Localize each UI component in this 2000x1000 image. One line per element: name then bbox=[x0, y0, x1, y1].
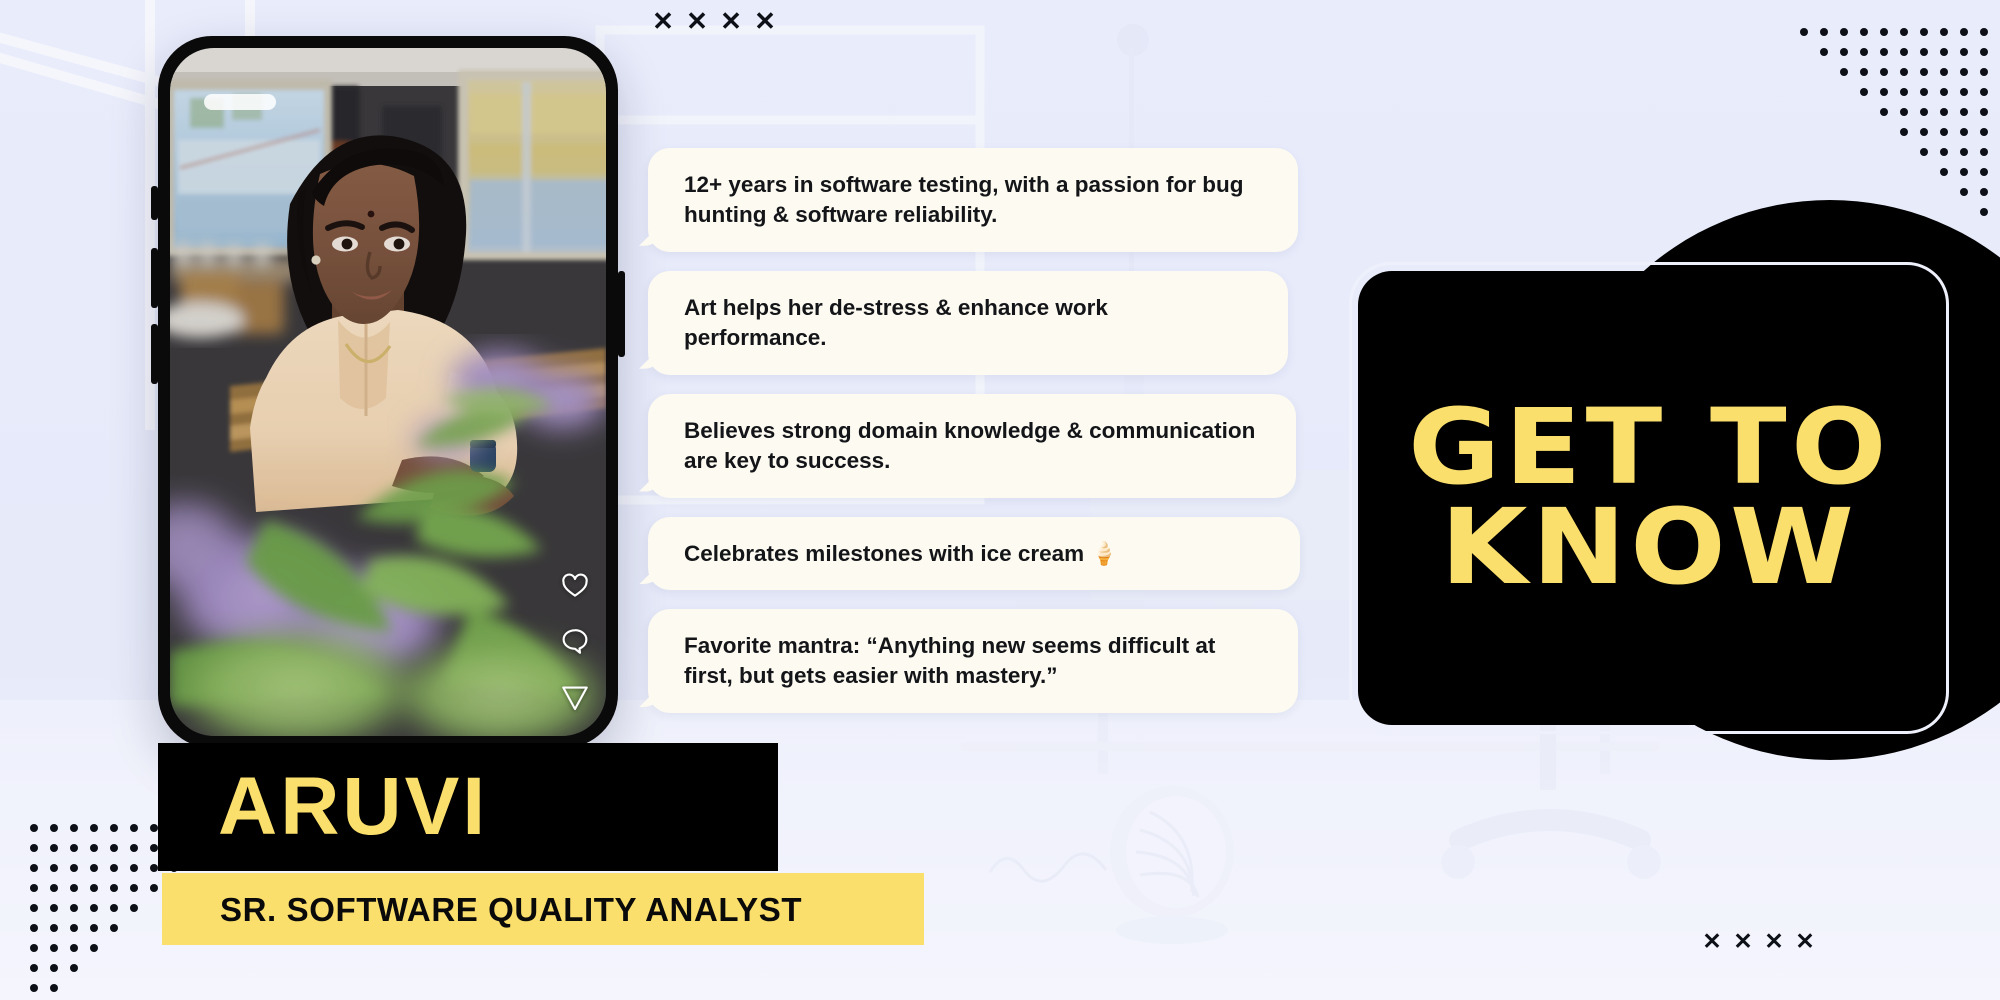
dot bbox=[1980, 188, 1988, 196]
dot bbox=[50, 844, 58, 852]
dot bbox=[1960, 168, 1968, 176]
dot bbox=[1820, 28, 1828, 36]
profile-photo bbox=[170, 48, 606, 736]
dot-row bbox=[1794, 42, 1994, 62]
dot bbox=[1860, 48, 1868, 56]
dot bbox=[1880, 68, 1888, 76]
role-plate: SR. SOFTWARE QUALITY ANALYST bbox=[162, 873, 924, 945]
dot-row bbox=[24, 978, 224, 998]
dot bbox=[1920, 108, 1928, 116]
dot bbox=[50, 984, 58, 992]
dot-spacer bbox=[1920, 208, 1928, 216]
dot-spacer bbox=[170, 964, 178, 972]
dot bbox=[1940, 168, 1948, 176]
phone-speaker-pill bbox=[204, 94, 276, 110]
dot-spacer bbox=[1860, 148, 1868, 156]
dot bbox=[1920, 48, 1928, 56]
dot-spacer bbox=[150, 984, 158, 992]
dot bbox=[1940, 48, 1948, 56]
fact-bubble-list: 12+ years in software testing, with a pa… bbox=[648, 148, 1308, 713]
dot bbox=[150, 884, 158, 892]
dot-spacer bbox=[1800, 88, 1808, 96]
dot-spacer bbox=[1840, 188, 1848, 196]
dot bbox=[1980, 168, 1988, 176]
dot bbox=[1960, 68, 1968, 76]
comment-icon[interactable] bbox=[560, 626, 590, 656]
dot-spacer bbox=[1900, 148, 1908, 156]
dot-spacer bbox=[130, 964, 138, 972]
dot-spacer bbox=[1800, 168, 1808, 176]
dot bbox=[130, 844, 138, 852]
dot bbox=[1920, 88, 1928, 96]
dot-spacer bbox=[1820, 148, 1828, 156]
dot-spacer bbox=[150, 904, 158, 912]
dot-spacer bbox=[1900, 168, 1908, 176]
dot-spacer bbox=[1840, 108, 1848, 116]
dot-spacer bbox=[130, 924, 138, 932]
phone-volume-up-button[interactable] bbox=[151, 248, 158, 308]
fact-bubble: Believes strong domain knowledge & commu… bbox=[648, 394, 1296, 498]
dot-spacer bbox=[1820, 208, 1828, 216]
dot-spacer bbox=[90, 984, 98, 992]
headline-line-1: GET TO bbox=[1408, 398, 1891, 498]
dot bbox=[1800, 28, 1808, 36]
dot-spacer bbox=[1840, 208, 1848, 216]
dot bbox=[1920, 28, 1928, 36]
dot-spacer bbox=[110, 944, 118, 952]
dot bbox=[1820, 48, 1828, 56]
dot-spacer bbox=[130, 984, 138, 992]
x-icon: ✕ bbox=[1700, 930, 1724, 953]
dot-spacer bbox=[1840, 128, 1848, 136]
dot bbox=[1960, 88, 1968, 96]
dot-spacer bbox=[1920, 188, 1928, 196]
dot-spacer bbox=[1880, 188, 1888, 196]
dot bbox=[70, 864, 78, 872]
dot bbox=[1960, 188, 1968, 196]
dot bbox=[70, 844, 78, 852]
dot-spacer bbox=[1800, 188, 1808, 196]
dot bbox=[1980, 88, 1988, 96]
portrait-illustration bbox=[170, 48, 606, 736]
dot-spacer bbox=[1860, 128, 1868, 136]
dot-spacer bbox=[1920, 168, 1928, 176]
dot-spacer bbox=[1960, 208, 1968, 216]
phone-screen bbox=[170, 48, 606, 736]
dot-spacer bbox=[1940, 208, 1948, 216]
dot-spacer bbox=[1860, 168, 1868, 176]
dot-spacer bbox=[1880, 148, 1888, 156]
x-icon: ✕ bbox=[1762, 930, 1786, 953]
dot bbox=[150, 824, 158, 832]
dot bbox=[1980, 208, 1988, 216]
dot bbox=[30, 844, 38, 852]
phone-mute-button[interactable] bbox=[151, 186, 158, 220]
dot-spacer bbox=[1800, 148, 1808, 156]
dot bbox=[1960, 148, 1968, 156]
dot-row bbox=[1794, 22, 1994, 42]
dot-spacer bbox=[1800, 68, 1808, 76]
dot bbox=[30, 924, 38, 932]
fact-bubble: 12+ years in software testing, with a pa… bbox=[648, 148, 1298, 252]
dot bbox=[1860, 68, 1868, 76]
dot-spacer bbox=[1820, 88, 1828, 96]
dot bbox=[1880, 28, 1888, 36]
dot bbox=[1980, 68, 1988, 76]
heart-icon[interactable] bbox=[560, 570, 590, 600]
dot-spacer bbox=[130, 944, 138, 952]
dot bbox=[70, 964, 78, 972]
dot bbox=[1880, 88, 1888, 96]
fact-bubble: Celebrates milestones with ice cream 🍦 bbox=[648, 517, 1300, 591]
dot bbox=[1940, 108, 1948, 116]
get-to-know-card: GET TO KNOW bbox=[1349, 262, 1949, 734]
dot-spacer bbox=[1880, 208, 1888, 216]
dot bbox=[1940, 68, 1948, 76]
dot bbox=[50, 864, 58, 872]
dot bbox=[1920, 148, 1928, 156]
dot-spacer bbox=[1840, 148, 1848, 156]
dot-spacer bbox=[1840, 168, 1848, 176]
headline-line-2: KNOW bbox=[1440, 498, 1858, 598]
dot bbox=[1960, 128, 1968, 136]
phone-mockup bbox=[158, 36, 618, 748]
dot bbox=[1900, 48, 1908, 56]
dot bbox=[1880, 108, 1888, 116]
dot bbox=[30, 904, 38, 912]
x-icon: ✕ bbox=[1731, 930, 1755, 953]
dot bbox=[1940, 28, 1948, 36]
dot-row bbox=[1794, 82, 1994, 102]
dot bbox=[1940, 128, 1948, 136]
dot bbox=[1840, 48, 1848, 56]
dot bbox=[1920, 68, 1928, 76]
dot bbox=[90, 864, 98, 872]
dot bbox=[90, 904, 98, 912]
dot bbox=[1840, 28, 1848, 36]
dot-spacer bbox=[1860, 188, 1868, 196]
x-icon: ✕ bbox=[684, 8, 710, 34]
dot-spacer bbox=[170, 944, 178, 952]
dot-spacer bbox=[1880, 128, 1888, 136]
instagram-action-rail bbox=[560, 570, 590, 712]
dot-spacer bbox=[210, 964, 218, 972]
dot bbox=[1940, 148, 1948, 156]
fact-bubble: Favorite mantra: “Anything new seems dif… bbox=[648, 609, 1298, 713]
dot-row bbox=[1794, 62, 1994, 82]
dot bbox=[70, 824, 78, 832]
dot-row bbox=[1794, 182, 1994, 202]
dot bbox=[50, 964, 58, 972]
dot bbox=[1900, 108, 1908, 116]
dot bbox=[50, 904, 58, 912]
dot bbox=[30, 884, 38, 892]
dot bbox=[50, 884, 58, 892]
dot-spacer bbox=[110, 964, 118, 972]
x-icon: ✕ bbox=[1793, 930, 1817, 953]
dot bbox=[1900, 88, 1908, 96]
dot bbox=[1840, 68, 1848, 76]
dot-spacer bbox=[70, 984, 78, 992]
decorative-x-row-top: ✕ ✕ ✕ ✕ bbox=[650, 8, 778, 34]
profile-role: SR. SOFTWARE QUALITY ANALYST bbox=[162, 893, 802, 926]
dot bbox=[50, 944, 58, 952]
dot-spacer bbox=[1840, 88, 1848, 96]
dot bbox=[70, 944, 78, 952]
dot-row bbox=[1794, 202, 1994, 222]
dot-row bbox=[1794, 142, 1994, 162]
dot-row bbox=[1794, 162, 1994, 182]
dot bbox=[110, 824, 118, 832]
name-plate: ARUVI bbox=[158, 743, 778, 871]
dot bbox=[30, 964, 38, 972]
dot bbox=[30, 944, 38, 952]
dot bbox=[90, 824, 98, 832]
dot-spacer bbox=[210, 944, 218, 952]
dot bbox=[1920, 128, 1928, 136]
dot-spacer bbox=[190, 964, 198, 972]
decorative-x-row-bottom: ✕ ✕ ✕ ✕ bbox=[1700, 930, 1817, 953]
dot bbox=[90, 884, 98, 892]
dot bbox=[50, 924, 58, 932]
dot-spacer bbox=[1900, 188, 1908, 196]
x-icon: ✕ bbox=[650, 8, 676, 34]
dot-spacer bbox=[190, 984, 198, 992]
dot-spacer bbox=[190, 944, 198, 952]
dot bbox=[110, 844, 118, 852]
dot-spacer bbox=[110, 984, 118, 992]
dot bbox=[30, 864, 38, 872]
dot bbox=[1900, 128, 1908, 136]
dot bbox=[150, 844, 158, 852]
dot-row bbox=[24, 958, 224, 978]
dot-spacer bbox=[1800, 128, 1808, 136]
dot bbox=[1980, 148, 1988, 156]
dot bbox=[1980, 48, 1988, 56]
dot bbox=[110, 924, 118, 932]
phone-volume-down-button[interactable] bbox=[151, 324, 158, 384]
dot bbox=[30, 984, 38, 992]
dot bbox=[1980, 128, 1988, 136]
dot bbox=[1860, 28, 1868, 36]
dot-spacer bbox=[150, 924, 158, 932]
profile-name: ARUVI bbox=[158, 766, 488, 848]
dot bbox=[70, 884, 78, 892]
dot bbox=[50, 824, 58, 832]
dot bbox=[70, 904, 78, 912]
x-icon: ✕ bbox=[718, 8, 744, 34]
dot bbox=[110, 884, 118, 892]
dot bbox=[1940, 88, 1948, 96]
dot-spacer bbox=[1880, 168, 1888, 176]
dot bbox=[130, 824, 138, 832]
dot bbox=[1880, 48, 1888, 56]
dot-spacer bbox=[1800, 108, 1808, 116]
dot bbox=[70, 924, 78, 932]
dot-spacer bbox=[1800, 48, 1808, 56]
share-icon[interactable] bbox=[560, 682, 590, 712]
dot bbox=[150, 864, 158, 872]
dot-spacer bbox=[150, 944, 158, 952]
dot-spacer bbox=[150, 964, 158, 972]
dot-spacer bbox=[1820, 68, 1828, 76]
dot bbox=[90, 844, 98, 852]
dot bbox=[1900, 68, 1908, 76]
dot-spacer bbox=[1820, 108, 1828, 116]
dot-spacer bbox=[1820, 188, 1828, 196]
dot bbox=[130, 884, 138, 892]
dot bbox=[90, 944, 98, 952]
dot bbox=[130, 864, 138, 872]
dot bbox=[1960, 48, 1968, 56]
dot bbox=[110, 864, 118, 872]
fact-bubble: Art helps her de-stress & enhance work p… bbox=[648, 271, 1288, 375]
dot-spacer bbox=[1860, 208, 1868, 216]
dot bbox=[1960, 28, 1968, 36]
dot bbox=[1900, 28, 1908, 36]
dot-spacer bbox=[1820, 128, 1828, 136]
dot-spacer bbox=[1860, 108, 1868, 116]
dot bbox=[90, 924, 98, 932]
dot bbox=[1860, 88, 1868, 96]
dot-spacer bbox=[170, 984, 178, 992]
dot bbox=[1980, 28, 1988, 36]
x-icon: ✕ bbox=[752, 8, 778, 34]
dot-spacer bbox=[90, 964, 98, 972]
dot bbox=[1960, 108, 1968, 116]
phone-power-button[interactable] bbox=[618, 271, 625, 357]
dot bbox=[30, 824, 38, 832]
dot-row bbox=[1794, 102, 1994, 122]
dot-spacer bbox=[1800, 208, 1808, 216]
dot-row bbox=[1794, 122, 1994, 142]
dot-spacer bbox=[1900, 208, 1908, 216]
dot bbox=[130, 904, 138, 912]
card-body: GET TO KNOW bbox=[1358, 271, 1940, 725]
dot bbox=[1980, 108, 1988, 116]
dot-spacer bbox=[210, 984, 218, 992]
dot-spacer bbox=[1820, 168, 1828, 176]
dot-spacer bbox=[1940, 188, 1948, 196]
dot bbox=[110, 904, 118, 912]
decorative-dot-triangle-top-right bbox=[1794, 22, 1994, 222]
